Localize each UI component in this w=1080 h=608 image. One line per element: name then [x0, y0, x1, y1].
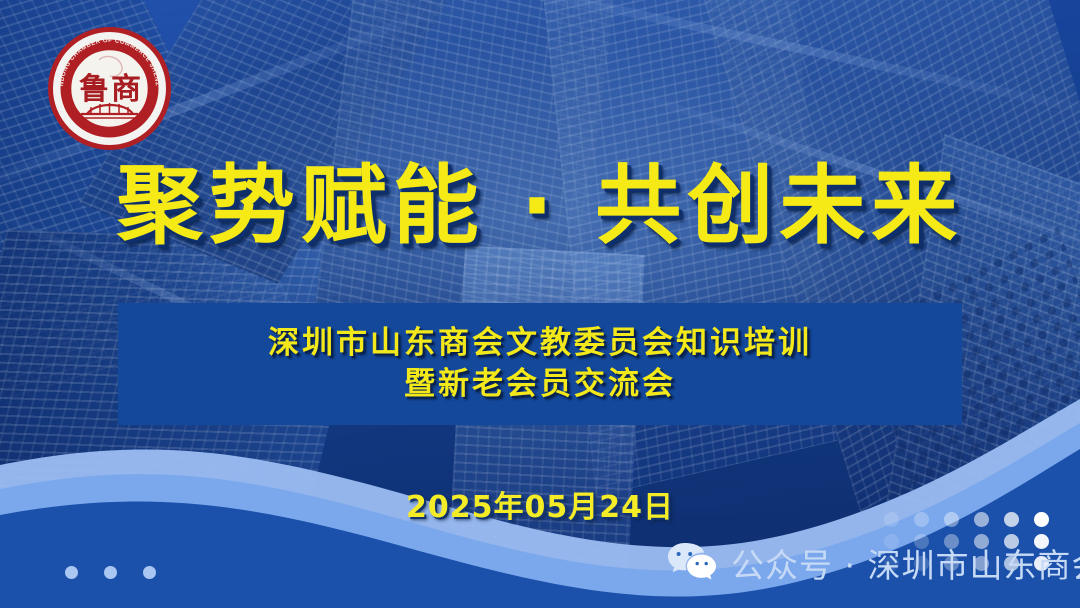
decorative-dot: [944, 512, 959, 527]
decorative-dot: [914, 512, 929, 527]
event-poster: SHANDONG CHAMBER OF COMMERCE SHENZHEN 深圳…: [0, 0, 1080, 608]
wechat-icon: [666, 541, 718, 585]
wechat-official-account: 公众号 · 深圳市山东商会: [666, 539, 1080, 587]
logo-character-shang: 商: [111, 72, 141, 107]
wechat-account-label: 公众号 · 深圳市山东商会: [731, 539, 1080, 587]
subtitle-line-2: 暨新老会员交流会: [404, 369, 676, 400]
subtitle-line-1: 深圳市山东商会文教委员会知识培训: [268, 328, 812, 359]
decorative-dot: [884, 512, 899, 527]
logo-character-lu: 鲁: [79, 72, 109, 107]
decorative-dot: [1034, 512, 1049, 527]
poster-headline: 聚势赋能 · 共创未来: [0, 158, 1080, 254]
decorative-dot: [1004, 512, 1019, 527]
subtitle-banner: 深圳市山东商会文教委员会知识培训 暨新老会员交流会: [118, 303, 962, 425]
chamber-logo: SHANDONG CHAMBER OF COMMERCE SHENZHEN 深圳…: [47, 26, 172, 151]
decorative-dots-left: [65, 566, 156, 579]
decorative-dot: [143, 566, 156, 579]
decorative-dot: [104, 566, 117, 579]
decorative-dot: [974, 512, 989, 527]
decorative-dot: [65, 566, 78, 579]
